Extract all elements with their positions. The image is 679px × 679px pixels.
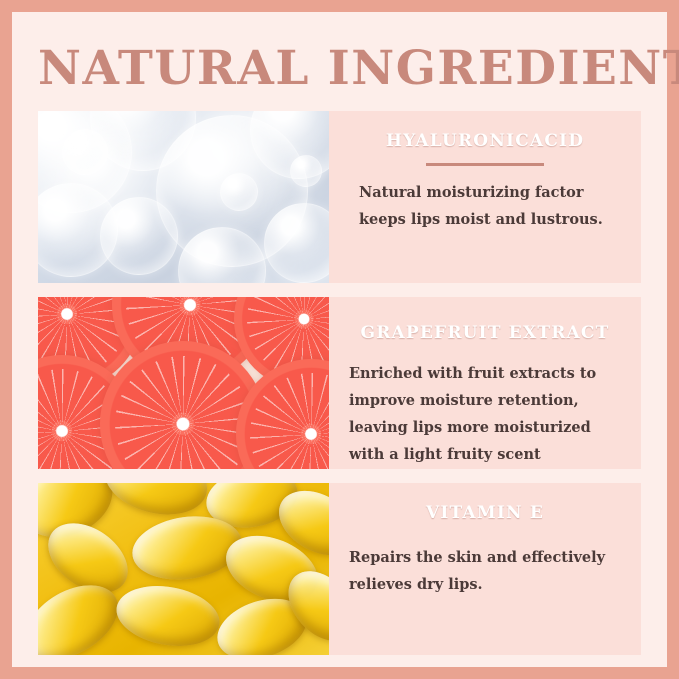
divider-rule (426, 163, 544, 166)
gel-bubbles-photo (38, 111, 329, 283)
ingredient-list: HYALURONICACID Natural moisturizing fact… (38, 111, 641, 655)
vitamin-e-softgels-photo (38, 483, 329, 655)
ingredient-description: Natural moisturizing factor keeps lips m… (345, 180, 625, 234)
ingredient-name: GRAPEFRUIT EXTRACT (360, 323, 609, 343)
ingredient-row-grapefruit-extract: GRAPEFRUIT EXTRACT Enriched with fruit e… (38, 297, 641, 469)
ingredient-name: VITAMIN E (426, 503, 544, 523)
ingredient-description: Repairs the skin and effectively relieve… (345, 545, 625, 599)
ingredient-panel-grapefruit-extract: GRAPEFRUIT EXTRACT Enriched with fruit e… (329, 297, 641, 469)
ingredient-row-hyaluronic-acid: HYALURONICACID Natural moisturizing fact… (38, 111, 641, 283)
poster: NATURAL INGREDIENTS HYALURONICACID Natur (12, 12, 667, 667)
ingredient-panel-vitamin-e: VITAMIN E Repairs the skin and effective… (329, 483, 641, 655)
grapefruit-slices-photo (38, 297, 329, 469)
ingredient-row-vitamin-e: VITAMIN E Repairs the skin and effective… (38, 483, 641, 655)
page-title: NATURAL INGREDIENTS (38, 44, 641, 93)
ingredient-panel-hyaluronic-acid: HYALURONICACID Natural moisturizing fact… (329, 111, 641, 283)
ingredient-description: Enriched with fruit extracts to improve … (345, 361, 625, 468)
ingredient-name: HYALURONICACID (386, 131, 584, 151)
